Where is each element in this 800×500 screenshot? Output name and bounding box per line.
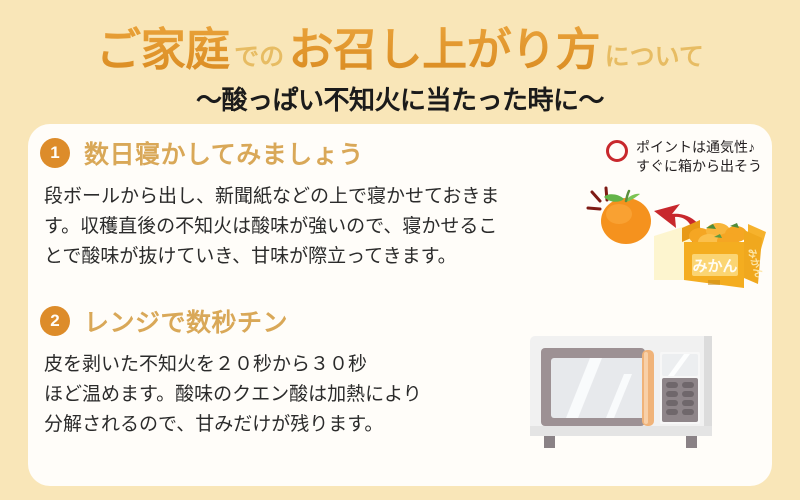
section-1-body: 段ボールから出し、新聞紙などの上で寝かせておきま す。収穫直後の不知火は酸味が強… bbox=[44, 182, 499, 272]
tip-note: ポイントは通気性♪ すぐに箱から出そう bbox=[606, 138, 762, 176]
section-2-body: 皮を剥いた不知火を２０秒から３０秒 ほど温めます。酸味のクエン酸は加熱により 分… bbox=[44, 350, 422, 440]
microwave-foot-right bbox=[686, 434, 697, 448]
title-part-3: お召し上がり方 bbox=[289, 24, 601, 75]
title-part-1: ご家庭 bbox=[96, 24, 230, 75]
header: ご家庭 での お召し上がり方 について 〜酸っぱい不知火に当たった時に〜 bbox=[0, 0, 800, 122]
section-2-body-line-1: 皮を剥いた不知火を２０秒から３０秒 bbox=[44, 350, 422, 380]
section-2-body-line-2: ほど温めます。酸味のクエン酸は加熱により bbox=[44, 380, 422, 410]
title-part-4: について bbox=[605, 43, 704, 71]
mikan-box-illustration: みかん みかん bbox=[580, 184, 770, 294]
page-title: ご家庭 での お召し上がり方 について bbox=[0, 13, 800, 78]
section-1-body-line-2: す。収穫直後の不知火は酸味が強いので、寝かせるこ bbox=[44, 212, 499, 242]
microwave-handle-highlight bbox=[644, 352, 648, 424]
microwave-illustration bbox=[508, 322, 738, 462]
section-1-title: 数日寝かしてみましょう bbox=[84, 135, 364, 171]
section-1-body-line-1: 段ボールから出し、新聞紙などの上で寝かせておきま bbox=[44, 182, 499, 212]
tip-note-text: ポイントは通気性♪ すぐに箱から出そう bbox=[636, 138, 762, 176]
box-label-front: みかん bbox=[692, 258, 737, 275]
page-subtitle: 〜酸っぱい不知火に当たった時に〜 bbox=[0, 80, 800, 117]
sparkle-icon bbox=[588, 188, 607, 209]
title-part-2: での bbox=[234, 43, 284, 71]
tip-note-line-1: ポイントは通気性♪ bbox=[636, 138, 762, 157]
content-card: 1 数日寝かしてみましょう 段ボールから出し、新聞紙などの上で寝かせておきま す… bbox=[28, 124, 772, 486]
cardboard-box: みかん みかん bbox=[682, 220, 766, 288]
tip-note-line-2: すぐに箱から出そう bbox=[636, 157, 762, 176]
section-step-2: 2 レンジで数秒チン 皮を剥いた不知火を２０秒から３０秒 ほど温めます。酸味のク… bbox=[40, 304, 422, 440]
circle-outline-icon bbox=[606, 140, 628, 162]
microwave-foot-left bbox=[544, 434, 555, 448]
orange-fruit-icon bbox=[601, 191, 651, 244]
display-screen bbox=[662, 354, 698, 376]
step-number-badge-1: 1 bbox=[40, 138, 70, 168]
section-1-header: 1 数日寝かしてみましょう bbox=[40, 136, 499, 170]
section-step-1: 1 数日寝かしてみましょう 段ボールから出し、新聞紙などの上で寝かせておきま す… bbox=[40, 136, 499, 272]
section-1-body-line-3: とで酸味が抜けていき、甘味が際立ってきます。 bbox=[44, 242, 499, 272]
section-2-title: レンジで数秒チン bbox=[84, 303, 288, 339]
microwave-body-shade bbox=[704, 336, 712, 436]
step-number-badge-2: 2 bbox=[40, 306, 70, 336]
section-2-header: 2 レンジで数秒チン bbox=[40, 304, 422, 338]
section-2-body-line-3: 分解されるので、甘みだけが残ります。 bbox=[44, 410, 422, 440]
microwave-base-shade bbox=[530, 426, 712, 436]
